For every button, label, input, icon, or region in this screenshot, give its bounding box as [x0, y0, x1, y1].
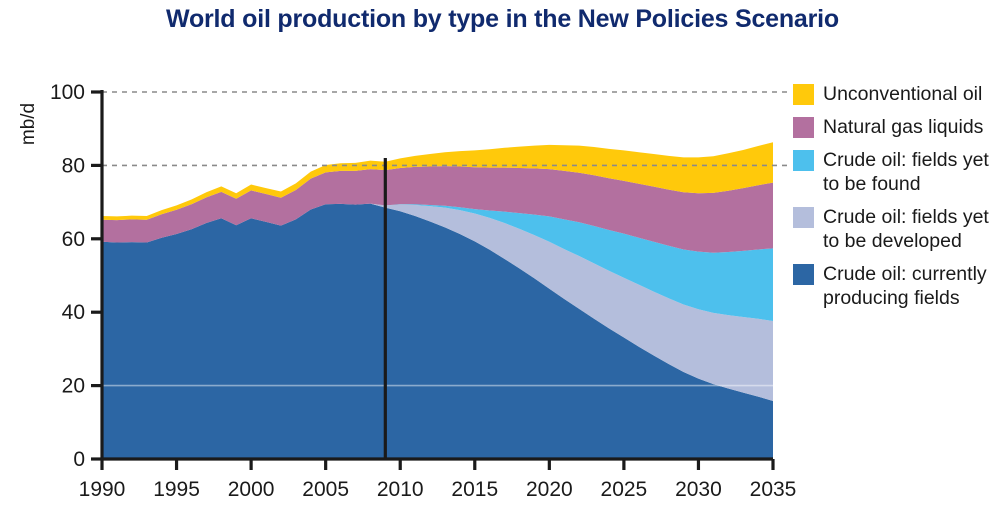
- legend-item[interactable]: Natural gas liquids: [793, 115, 1005, 139]
- chart-areas: [102, 142, 773, 459]
- legend-swatch-icon: [793, 207, 814, 228]
- y-tick-label: 20: [62, 375, 85, 398]
- x-tick-label: 2020: [526, 478, 573, 501]
- x-tick-label: 2010: [377, 478, 424, 501]
- legend-item-label: Crude oil: fields yet to be found: [823, 148, 989, 196]
- y-tick-label: 100: [50, 81, 85, 104]
- chart-figure: World oil production by type in the New …: [0, 0, 1005, 513]
- x-tick-label: 2025: [601, 478, 648, 501]
- legend-swatch-icon: [793, 117, 814, 138]
- y-axis-tick-labels: 020406080100: [50, 81, 85, 471]
- x-tick-label: 2000: [228, 478, 275, 501]
- legend-swatch-icon: [793, 84, 814, 105]
- y-tick-label: 80: [62, 154, 85, 177]
- legend-item[interactable]: Unconventional oil: [793, 82, 1005, 106]
- x-tick-label: 1995: [153, 478, 200, 501]
- x-axis-tick-labels: 1990199520002005201020152020202520302035: [79, 478, 797, 501]
- legend-item[interactable]: Crude oil: fields yet to be developed: [793, 205, 1005, 253]
- x-tick-label: 2030: [675, 478, 722, 501]
- x-tick-label: 2015: [451, 478, 498, 501]
- legend-item-label: Crude oil: fields yet to be developed: [823, 205, 989, 253]
- legend-swatch-icon: [793, 150, 814, 171]
- legend-item-label: Natural gas liquids: [823, 115, 983, 139]
- y-axis-title: mb/d: [18, 103, 39, 145]
- x-tick-label: 2035: [750, 478, 797, 501]
- x-tick-label: 1990: [79, 478, 126, 501]
- y-tick-label: 0: [73, 448, 85, 471]
- y-tick-label: 60: [62, 228, 85, 251]
- legend-swatch-icon: [793, 264, 814, 285]
- legend-item-label: Crude oil: currently producing fields: [823, 262, 987, 310]
- chart-legend: Unconventional oilNatural gas liquidsCru…: [793, 82, 1005, 319]
- x-tick-label: 2005: [302, 478, 349, 501]
- y-tick-label: 40: [62, 301, 85, 324]
- legend-item-label: Unconventional oil: [823, 82, 982, 106]
- legend-item[interactable]: Crude oil: fields yet to be found: [793, 148, 1005, 196]
- y-axis-title-text: mb/d: [18, 103, 39, 145]
- legend-item[interactable]: Crude oil: currently producing fields: [793, 262, 1005, 310]
